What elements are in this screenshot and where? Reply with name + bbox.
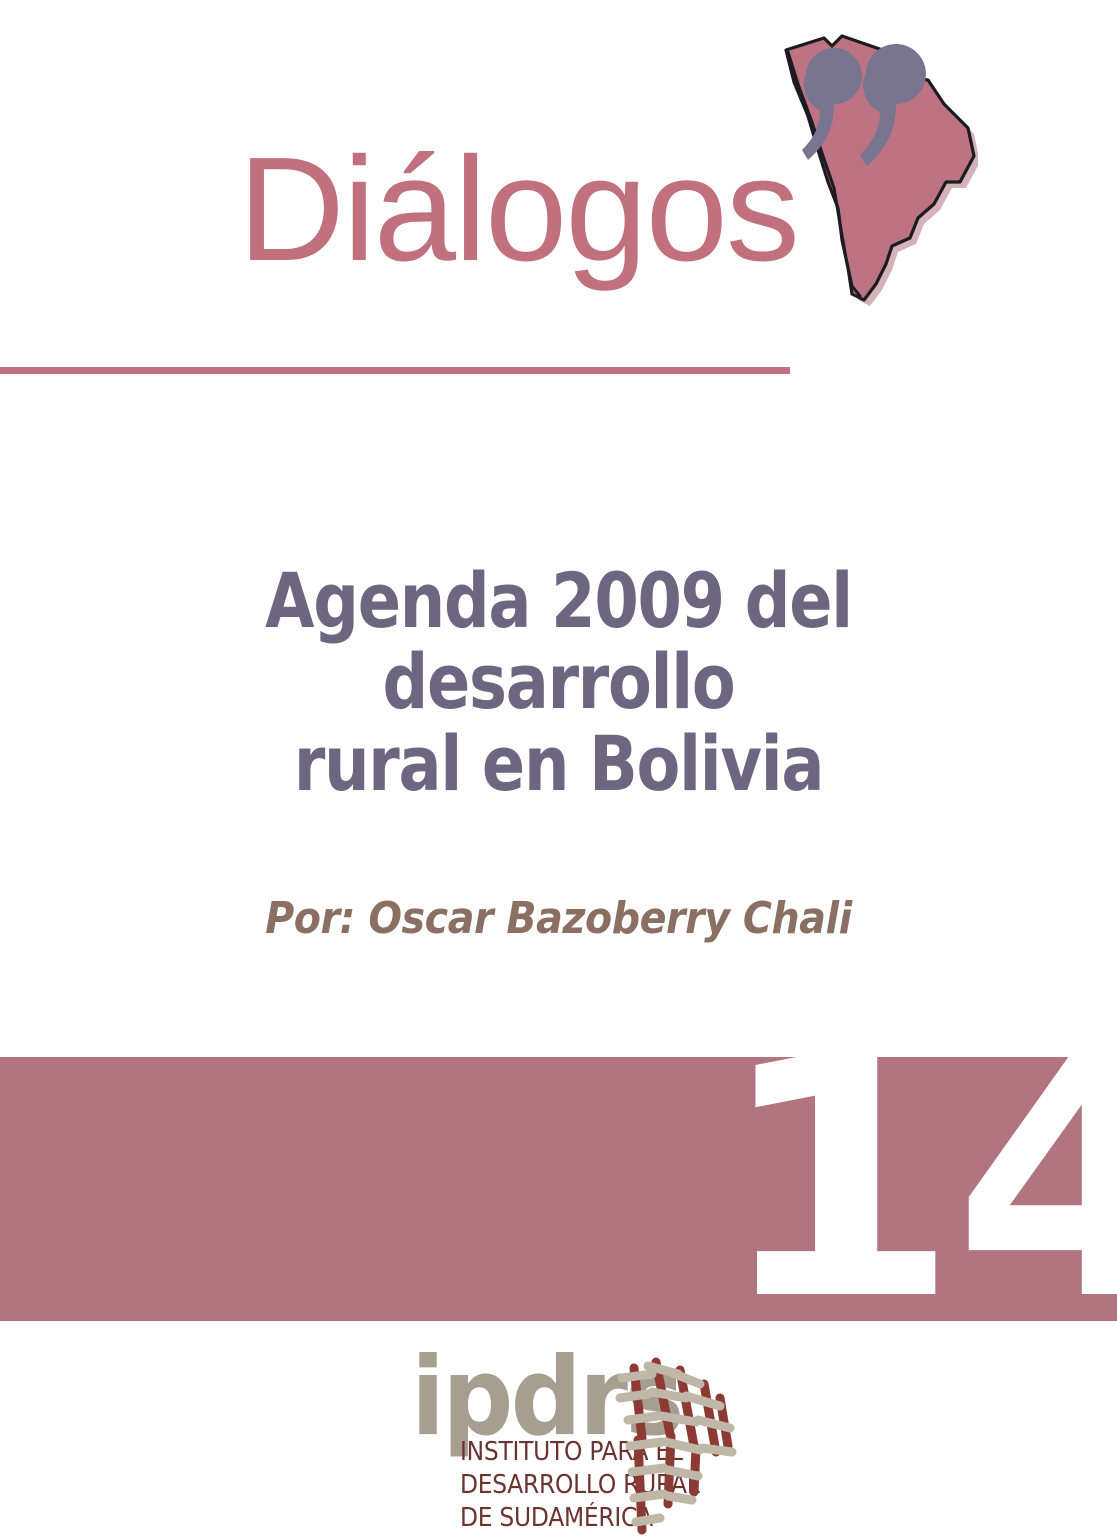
document-cover-page: Diálogos Agenda 2009 del desarrollo rura… [0, 0, 1117, 1536]
publisher-logo: ipdrs INSTITUTO PARA EL DESARROLLO RURAL… [405, 1352, 745, 1536]
woven-south-america-icon [608, 1354, 745, 1536]
author-byline: Por: Oscar Bazoberry Chali [108, 893, 1009, 944]
title-line-2: rural en Bolivia [294, 719, 823, 808]
south-america-quotation-mark-logo [768, 32, 978, 307]
title-block: Agenda 2009 del desarrollo rural en Boli… [58, 560, 1059, 804]
masthead: Diálogos [0, 0, 1117, 340]
title-line-1: Agenda 2009 del desarrollo [265, 556, 852, 726]
masthead-divider-rule [0, 367, 790, 374]
brand-wordmark: Diálogos [238, 136, 798, 284]
issue-number: 14 [716, 1010, 1117, 1350]
page-title: Agenda 2009 del desarrollo rural en Boli… [138, 560, 979, 804]
